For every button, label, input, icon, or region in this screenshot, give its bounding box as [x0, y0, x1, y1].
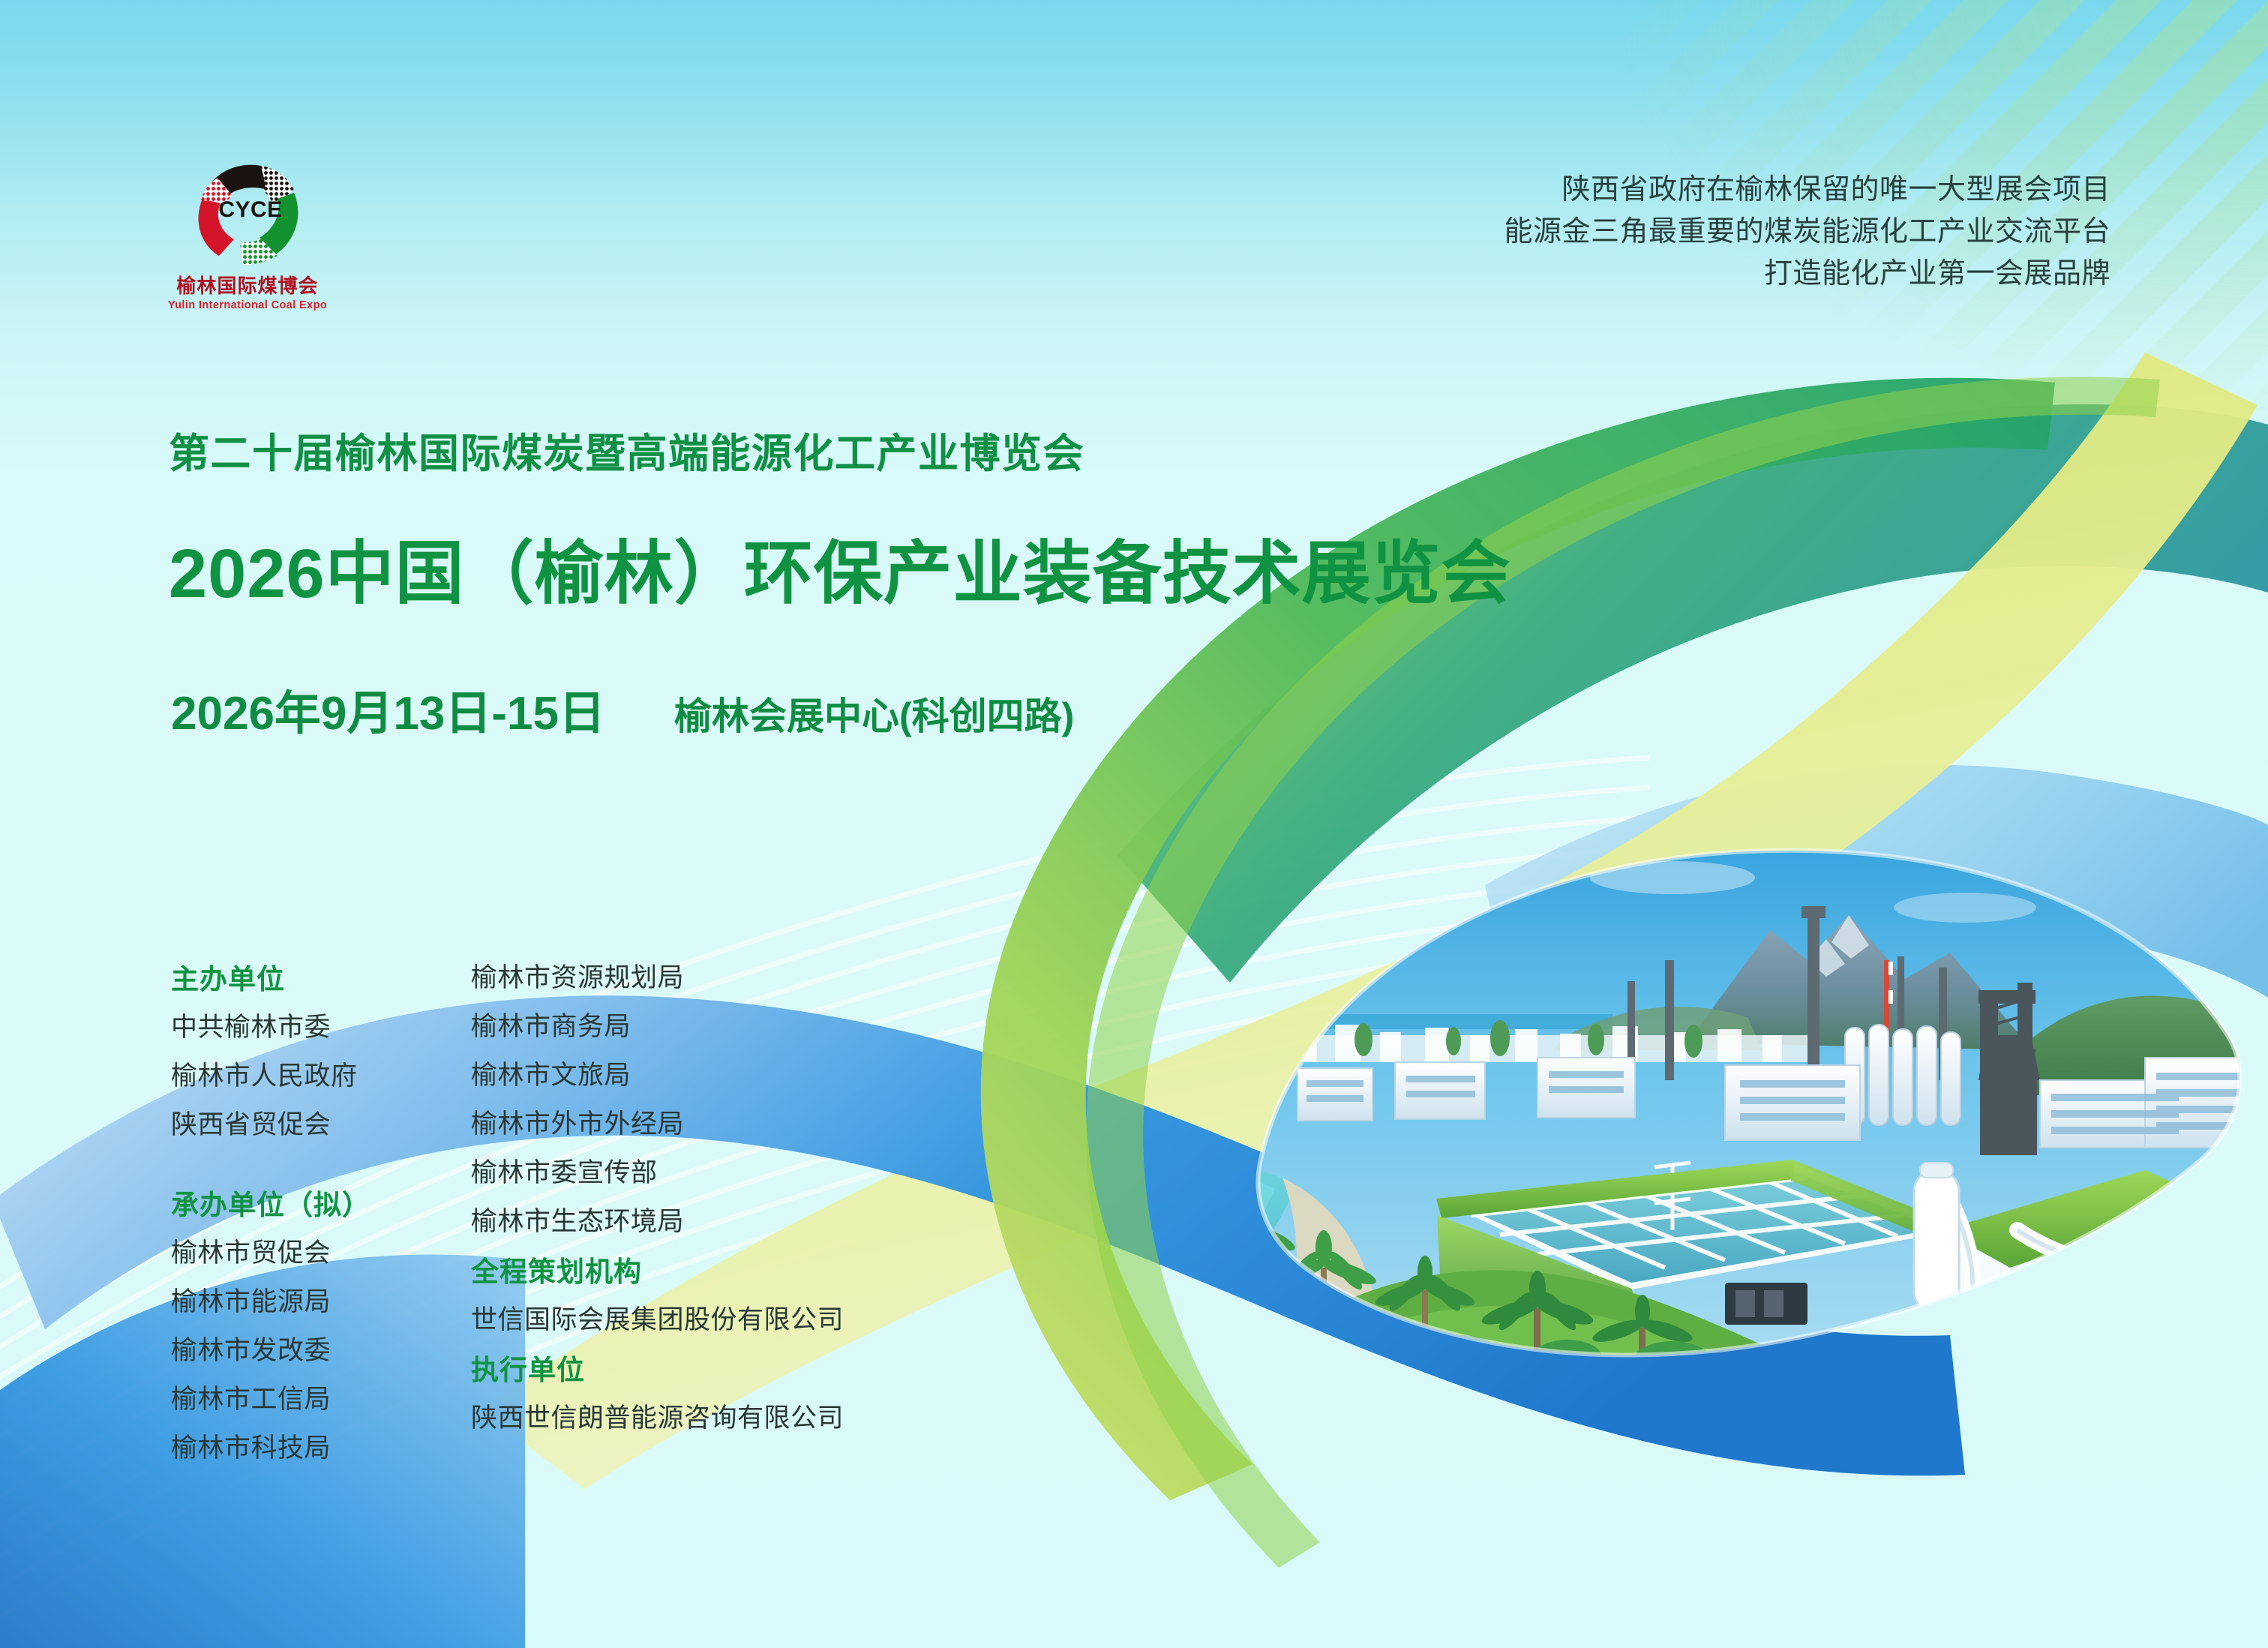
tagline-line-3: 打造能化产业第一会展品牌	[1504, 253, 2110, 295]
event-venue: 榆林会展中心(科创四路)	[674, 686, 1074, 740]
tagline-line-1: 陕西省政府在榆林保留的唯一大型展会项目	[1504, 169, 2110, 211]
org-item: 榆林市贸促会	[171, 1232, 471, 1270]
group-head-organizer: 承办单位（拟）	[171, 1182, 471, 1223]
org-item: 榆林市资源规划局	[471, 956, 996, 995]
group-head-planner: 全程策划机构	[471, 1249, 996, 1289]
group-head-host: 主办单位	[171, 956, 471, 997]
org-item: 榆林市人民政府	[171, 1055, 471, 1093]
org-item: 榆林市商务局	[471, 1005, 996, 1043]
organizers-block: 主办单位 中共榆林市委 榆林市人民政府 陕西省贸促会 承办单位（拟） 榆林市贸促…	[171, 956, 996, 1475]
org-item: 榆林市能源局	[171, 1280, 471, 1319]
logo-english-name: Yulin International Coal Expo	[161, 299, 334, 311]
industrial-park-photo	[1147, 810, 2268, 1365]
org-item: 榆林市委宣传部	[471, 1151, 996, 1190]
org-item: 榆林市外市外经局	[471, 1103, 996, 1141]
organizers-column-2: 榆林市资源规划局 榆林市商务局 榆林市文旅局 榆林市外市外经局 榆林市委宣传部 …	[471, 956, 996, 1475]
event-subtitle: 第二十届榆林国际煤炭暨高端能源化工产业博览会	[169, 420, 1084, 479]
tagline-block: 陕西省政府在榆林保留的唯一大型展会项目 能源金三角最重要的煤炭能源化工产业交流平…	[1504, 169, 2110, 296]
org-item: 榆林市科技局	[171, 1427, 471, 1465]
org-item: 榆林市发改委	[171, 1329, 471, 1367]
organizers-column-1: 主办单位 中共榆林市委 榆林市人民政府 陕西省贸促会 承办单位（拟） 榆林市贸促…	[171, 956, 471, 1475]
org-item: 榆林市文旅局	[471, 1054, 996, 1092]
svg-text:CYCE: CYCE	[218, 197, 282, 222]
tagline-line-2: 能源金三角最重要的煤炭能源化工产业交流平台	[1504, 211, 2110, 253]
org-item: 榆林市生态环境局	[471, 1200, 996, 1238]
poster-canvas: CYCE 榆林国际煤博会 Yulin International Coal Ex…	[0, 0, 2268, 1648]
date-venue-line: 2026年9月13日-15日 榆林会展中心(科创四路)	[171, 675, 1074, 743]
org-item: 陕西世信朗普能源咨询有限公司	[471, 1397, 996, 1435]
event-main-title: 2026中国（榆林）环保产业装备技术展览会	[169, 518, 1511, 617]
cyce-logo-mark: CYCE	[172, 154, 322, 274]
cyce-logo: CYCE 榆林国际煤博会 Yulin International Coal Ex…	[161, 154, 334, 315]
org-item: 榆林市工信局	[171, 1378, 471, 1416]
event-date: 2026年9月13日-15日	[171, 675, 605, 743]
spacer	[171, 1152, 471, 1182]
group-head-executor: 执行单位	[471, 1347, 996, 1388]
org-item: 中共榆林市委	[171, 1006, 471, 1044]
logo-chinese-name: 榆林国际煤博会	[161, 271, 334, 299]
org-item: 世信国际会展集团股份有限公司	[471, 1298, 996, 1337]
org-item: 陕西省贸促会	[171, 1103, 471, 1142]
